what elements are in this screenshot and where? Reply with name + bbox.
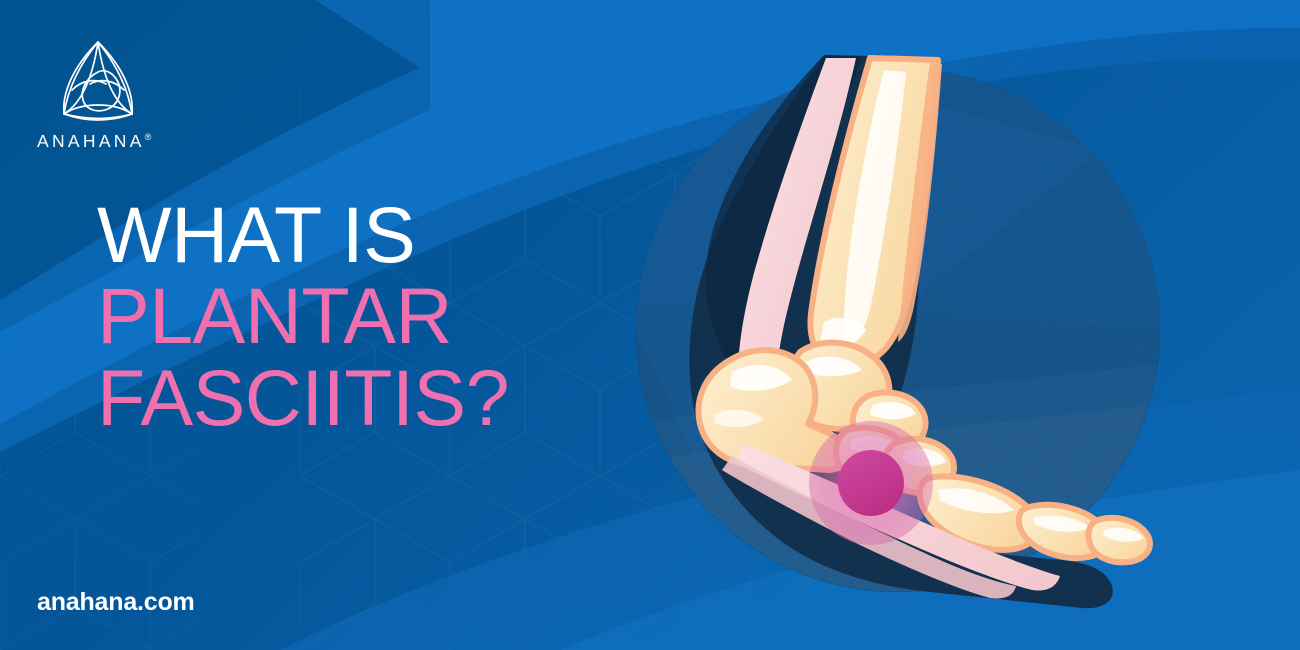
site-url[interactable]: anahana.com [37, 588, 195, 617]
triquetra-icon [52, 38, 144, 122]
headline-line-3: FASCIITIS? [97, 359, 509, 436]
headline-line-2: PLANTAR [97, 277, 509, 354]
banner-root: ANAHANA® WHAT IS PLANTAR FASCIITIS? anah… [0, 0, 1300, 650]
brand-wordmark: ANAHANA® [37, 131, 184, 152]
brand-wordmark-text: ANAHANA [37, 131, 145, 151]
page-title: WHAT IS PLANTAR FASCIITIS? [97, 196, 509, 440]
brand-logo[interactable]: ANAHANA® [34, 38, 184, 152]
registered-mark: ® [145, 132, 152, 142]
headline-line-1: WHAT IS [97, 196, 509, 273]
